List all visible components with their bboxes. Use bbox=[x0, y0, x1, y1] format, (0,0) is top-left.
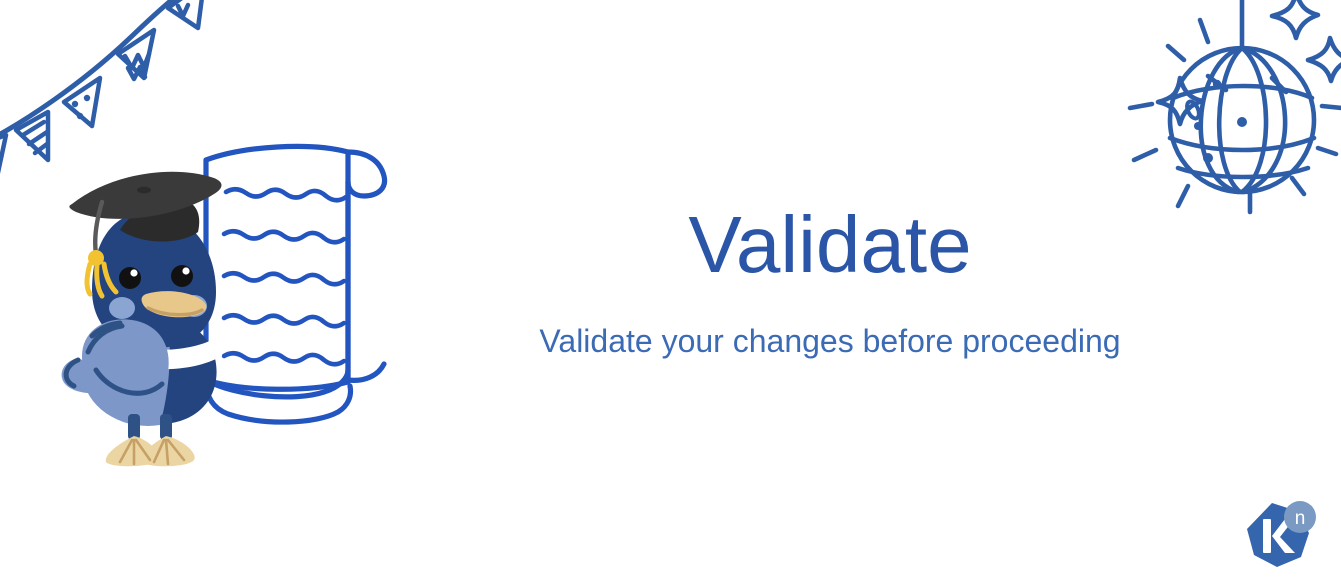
certificate-scroll-shape bbox=[206, 146, 385, 422]
page-title: Validate bbox=[470, 205, 1190, 285]
brand-logo[interactable]: n bbox=[1241, 497, 1323, 577]
page-subtitle: Validate your changes before proceeding bbox=[470, 285, 1190, 360]
hero-text-block: Validate Validate your changes before pr… bbox=[470, 205, 1190, 360]
logo-letter-n: n bbox=[1295, 508, 1306, 529]
mascot-bird-shape bbox=[62, 172, 222, 467]
slide-canvas: Validate Validate your changes before pr… bbox=[0, 0, 1341, 585]
graduate-bird-illustration bbox=[48, 130, 468, 470]
disco-ball-icon bbox=[1122, 0, 1341, 228]
